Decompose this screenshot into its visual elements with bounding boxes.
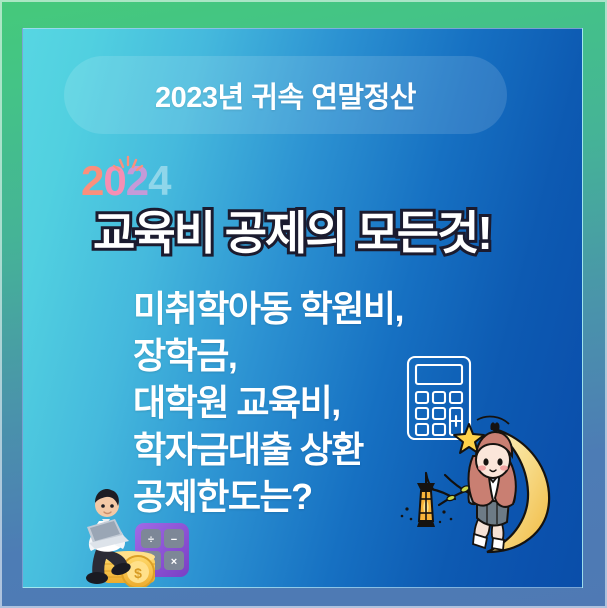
body-line: 미취학아동 학원비, (133, 285, 553, 332)
badge-pill: 2023년 귀속 연말정산 (64, 56, 507, 134)
poster-root: 2023년 귀속 연말정산 2024 교육비 공제의 모든것! 미취학아동 학원… (0, 0, 607, 608)
page-title: 교육비 공제의 모든것! (93, 207, 491, 260)
poster-card: 2023년 귀속 연말정산 2024 교육비 공제의 모든것! 미취학아동 학원… (22, 28, 583, 588)
body-line: 장학금, (133, 332, 553, 379)
moon-illustration (443, 412, 583, 562)
sparkle-icon (111, 155, 145, 175)
svg-text:$: $ (134, 565, 142, 581)
year-digit-1: 2 (81, 160, 103, 202)
person-illustration: ÷ − + × $ (75, 481, 197, 588)
year-digit-4: 4 (148, 160, 170, 202)
svg-text:×: × (171, 556, 177, 568)
svg-text:−: − (171, 534, 177, 546)
svg-text:÷: ÷ (148, 534, 154, 546)
badge-label: 2023년 귀속 연말정산 (155, 74, 416, 116)
